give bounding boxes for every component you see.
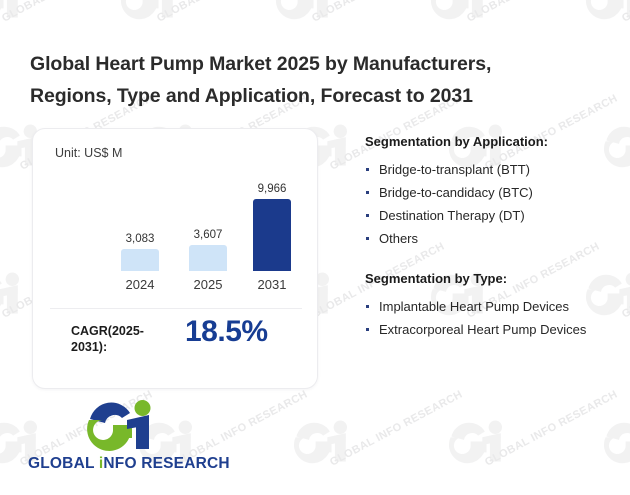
bar-group: 3,0832024 xyxy=(109,177,171,292)
watermark-text: GLOBAL INFO RESEARCH xyxy=(310,0,447,25)
segmentation-type-list: Implantable Heart Pump DevicesExtracorpo… xyxy=(365,297,615,340)
application-list-item-label: Others xyxy=(379,231,418,246)
segmentation-application-list: Bridge-to-transplant (BTT)Bridge-to-cand… xyxy=(365,160,615,249)
segmentation-application-heading: Segmentation by Application: xyxy=(365,134,615,149)
watermark-tile: GLOBAL INFO RESEARCH xyxy=(288,414,438,495)
application-list-item: Bridge-to-transplant (BTT) xyxy=(365,160,615,180)
watermark-gi-icon xyxy=(0,0,32,30)
company-logo: GLOBAL iNFO RESEARCH xyxy=(28,398,218,473)
market-bar-chart: 3,08320243,60720259,9662031 xyxy=(51,177,301,292)
watermark-text: GLOBAL INFO RESEARCH xyxy=(465,0,602,25)
bar-group: 3,6072025 xyxy=(177,177,239,292)
cagr-value: 18.5% xyxy=(185,315,268,349)
watermark-gi-icon xyxy=(425,0,497,30)
watermark-text: GLOBAL INFO RESEARCH xyxy=(620,0,630,25)
gi-logo-icon xyxy=(80,398,166,452)
segmentation-panel: Segmentation by Application: Bridge-to-t… xyxy=(365,134,615,343)
watermark-tile: GLOBAL INFO RESEARCH xyxy=(443,414,593,495)
unit-label: Unit: US$ M xyxy=(55,146,122,160)
card-divider xyxy=(50,308,302,309)
watermark-gi-icon xyxy=(288,414,360,474)
bar-category-label: 2024 xyxy=(109,277,171,292)
application-list-item-label: Bridge-to-candidacy (BTC) xyxy=(379,185,533,200)
bullet-icon xyxy=(366,214,369,217)
watermark-tile: GLOBAL INFO RESEARCH xyxy=(598,414,630,495)
logo-text-global: GLOBAL xyxy=(28,455,99,472)
page-title: Global Heart Pump Market 2025 by Manufac… xyxy=(30,48,570,112)
application-list-item: Destination Therapy (DT) xyxy=(365,206,615,226)
bullet-icon xyxy=(366,305,369,308)
application-list-item: Bridge-to-candidacy (BTC) xyxy=(365,183,615,203)
watermark-text: GLOBAL INFO RESEARCH xyxy=(328,388,465,468)
bullet-icon xyxy=(366,168,369,171)
watermark-gi-icon xyxy=(598,414,630,474)
watermark-text: GLOBAL INFO RESEARCH xyxy=(620,240,630,320)
segmentation-type-heading: Segmentation by Type: xyxy=(365,271,615,286)
market-summary-card: Unit: US$ M 3,08320243,60720259,9662031 … xyxy=(32,128,318,389)
application-list-item-label: Bridge-to-transplant (BTT) xyxy=(379,162,530,177)
bar-value-label: 3,607 xyxy=(177,229,239,241)
watermark-text: GLOBAL INFO RESEARCH xyxy=(0,0,137,25)
watermark-gi-icon xyxy=(115,0,187,30)
infographic-root: GLOBAL INFO RESEARCHGLOBAL INFO RESEARCH… xyxy=(0,0,630,495)
bar-2024 xyxy=(121,249,159,271)
watermark-text: GLOBAL INFO RESEARCH xyxy=(155,0,292,25)
watermark-gi-icon xyxy=(270,0,342,30)
watermark-gi-icon xyxy=(580,0,630,30)
type-list-item: Implantable Heart Pump Devices xyxy=(365,297,615,317)
type-list-item: Extracorporeal Heart Pump Devices xyxy=(365,320,615,340)
logo-text-research: NFO RESEARCH xyxy=(103,455,229,472)
bullet-icon xyxy=(366,237,369,240)
application-list-item: Others xyxy=(365,229,615,249)
watermark-tile: GLOBAL INFO RESEARCH xyxy=(580,0,630,120)
type-list-item-label: Implantable Heart Pump Devices xyxy=(379,299,569,314)
bar-value-label: 9,966 xyxy=(241,183,303,195)
bar-value-label: 3,083 xyxy=(109,233,171,245)
type-list-item-label: Extracorporeal Heart Pump Devices xyxy=(379,322,586,337)
bar-2031 xyxy=(253,199,291,271)
watermark-gi-icon xyxy=(0,266,32,326)
bar-category-label: 2025 xyxy=(177,277,239,292)
logo-wordmark: GLOBAL iNFO RESEARCH xyxy=(28,455,218,473)
bar-2025 xyxy=(189,245,227,271)
bullet-icon xyxy=(366,328,369,331)
watermark-text: GLOBAL INFO RESEARCH xyxy=(483,388,620,468)
application-list-item-label: Destination Therapy (DT) xyxy=(379,208,525,223)
bullet-icon xyxy=(366,191,369,194)
cagr-label: CAGR(2025-2031): xyxy=(71,323,157,355)
bar-category-label: 2031 xyxy=(241,277,303,292)
watermark-gi-icon xyxy=(443,414,515,474)
bar-group: 9,9662031 xyxy=(241,177,303,292)
